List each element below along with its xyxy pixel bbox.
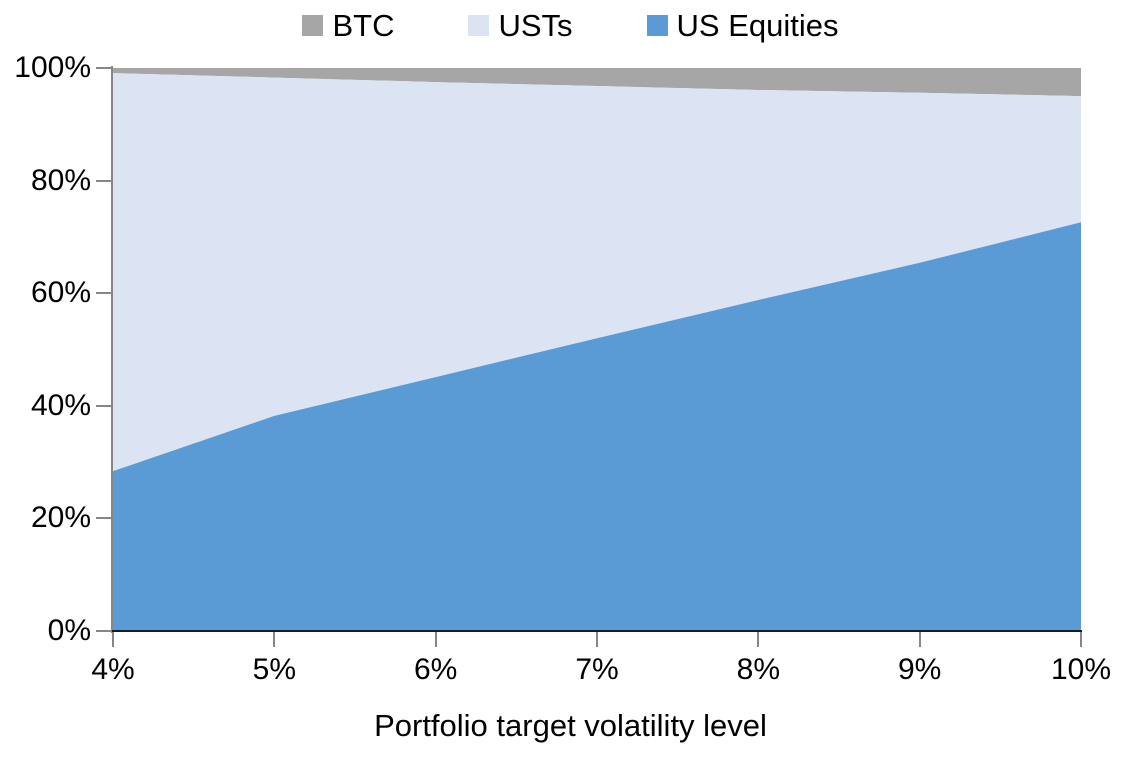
x-axis-tick	[596, 632, 598, 647]
y-axis-tick	[96, 630, 112, 632]
x-axis-tick	[757, 632, 759, 647]
y-axis-tick-label: 100%	[14, 53, 91, 83]
square-swatch-icon	[647, 15, 668, 36]
area-series-svg	[113, 68, 1081, 631]
y-axis-tick-label: 40%	[31, 391, 91, 421]
legend-item-btc[interactable]: BTC	[302, 10, 394, 41]
x-axis-tick	[435, 632, 437, 647]
x-axis-tick-label: 5%	[253, 655, 296, 685]
x-axis-tick-label: 9%	[898, 655, 941, 685]
stacked-area-chart: BTC USTs US Equities 0%20%40%60%80%100% …	[0, 0, 1141, 763]
legend-label-us-equities: US Equities	[677, 10, 839, 41]
x-axis-tick-label: 6%	[414, 655, 457, 685]
y-axis-tick	[96, 517, 112, 519]
x-axis-tick	[273, 632, 275, 647]
square-swatch-icon	[468, 15, 489, 36]
y-axis-tick-label: 60%	[31, 278, 91, 308]
y-axis-tick	[96, 180, 112, 182]
x-axis-line	[96, 630, 1082, 632]
y-axis-tick-label: 80%	[31, 166, 91, 196]
plot-area	[113, 68, 1081, 631]
y-axis-line	[111, 66, 113, 633]
x-axis-tick	[1080, 632, 1082, 647]
x-axis-tick-label: 10%	[1051, 655, 1111, 685]
legend-label-usts: USTs	[498, 10, 572, 41]
legend-item-us-equities[interactable]: US Equities	[647, 10, 839, 41]
y-axis-tick	[96, 67, 112, 69]
x-axis-tick	[112, 632, 114, 647]
x-axis-tick-label: 7%	[575, 655, 618, 685]
chart-legend: BTC USTs US Equities	[0, 6, 1141, 44]
y-axis-tick-label: 0%	[48, 616, 91, 646]
y-axis-tick-label: 20%	[31, 503, 91, 533]
y-axis-tick	[96, 292, 112, 294]
legend-label-btc: BTC	[332, 10, 394, 41]
x-axis-tick	[919, 632, 921, 647]
x-axis-tick-label: 4%	[91, 655, 134, 685]
x-axis-tick-label: 8%	[737, 655, 780, 685]
x-axis-title: Portfolio target volatility level	[0, 709, 1141, 743]
square-swatch-icon	[302, 15, 323, 36]
y-axis-tick	[96, 405, 112, 407]
legend-item-usts[interactable]: USTs	[468, 10, 572, 41]
